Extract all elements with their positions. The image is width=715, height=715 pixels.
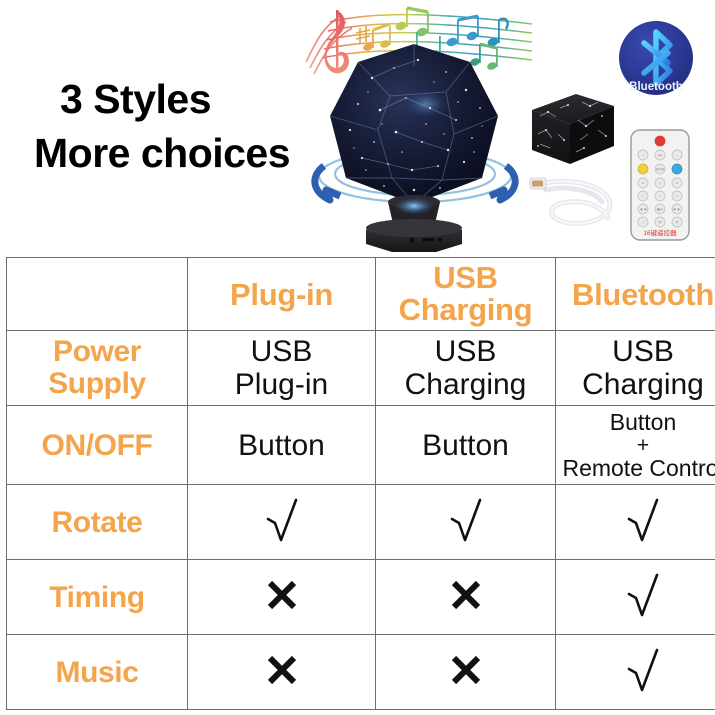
row-label-power-supply: Power Supply — [7, 331, 188, 406]
cell-power-supply-usb: USB Charging — [376, 331, 556, 406]
table-row-onoff: ON/OFF Button Button Button + Remote Con… — [7, 406, 715, 485]
cell-text: + — [558, 435, 715, 456]
gift-box-image — [518, 90, 618, 170]
svg-text:▶II: ▶II — [657, 207, 662, 212]
hero-section: 3 Styles More choices — [0, 0, 715, 257]
cell-rotate-bluetooth — [556, 485, 715, 560]
table-row-timing: Timing — [7, 560, 715, 635]
cell-text: Plug-in — [235, 368, 328, 401]
remote-control-image: +W− RYB ≡○≡ −○+ ◄◄▶II►► ♪⟲⟳ 16键遥控器 — [629, 128, 691, 242]
column-header-usb-charging: USB Charging — [376, 258, 556, 331]
cell-text: USB — [251, 335, 313, 368]
row-label-rotate-text: Rotate — [52, 506, 143, 539]
check-icon — [626, 497, 660, 543]
table-corner-cell — [7, 258, 188, 331]
bluetooth-badge: Bluetooth — [616, 18, 696, 98]
cell-onoff-usb: Button — [376, 406, 556, 485]
row-label-timing-text: Timing — [49, 581, 144, 614]
cell-text: Charging — [405, 368, 527, 401]
cell-onoff-bluetooth: Button + Remote Control — [556, 406, 715, 485]
svg-text:◄◄: ◄◄ — [639, 207, 647, 212]
cell-text: Button — [422, 429, 509, 462]
cell-timing-plugin — [188, 560, 376, 635]
row-label-timing: Timing — [7, 560, 188, 635]
column-header-bluetooth-label: Bluetooth — [572, 277, 714, 312]
cell-rotate-usb — [376, 485, 556, 560]
cell-power-supply-bluetooth: USB Charging — [556, 331, 715, 406]
comparison-table-wrapper: Plug-in USB Charging Bluetooth — [6, 257, 710, 709]
cell-text: Charging — [582, 368, 704, 401]
column-header-bluetooth: Bluetooth — [556, 258, 715, 331]
cell-text: USB — [612, 335, 674, 368]
comparison-table: Plug-in USB Charging Bluetooth — [6, 257, 715, 710]
headline-line-1: 3 Styles — [34, 72, 354, 126]
svg-text:W: W — [658, 153, 662, 158]
cell-music-bluetooth — [556, 635, 715, 710]
row-label-music: Music — [7, 635, 188, 710]
cell-power-supply-plugin: USB Plug-in — [188, 331, 376, 406]
check-icon — [626, 572, 660, 618]
cross-icon — [448, 577, 484, 613]
svg-text:♪: ♪ — [642, 220, 644, 225]
svg-text:►►: ►► — [673, 207, 681, 212]
star-projector-lamp-image — [322, 38, 507, 256]
cell-onoff-plugin: Button — [188, 406, 376, 485]
cell-music-plugin — [188, 635, 376, 710]
cross-icon — [264, 577, 300, 613]
cell-music-usb — [376, 635, 556, 710]
row-label-onoff-text: ON/OFF — [42, 429, 153, 462]
cell-timing-usb — [376, 560, 556, 635]
table-row-rotate: Rotate — [7, 485, 715, 560]
table-row-music: Music — [7, 635, 715, 710]
row-label-onoff: ON/OFF — [7, 406, 188, 485]
column-header-plugin: Plug-in — [188, 258, 376, 331]
row-label-power-supply-line-2: Supply — [48, 367, 146, 400]
cell-text: Remote Control — [562, 455, 715, 481]
cross-icon — [448, 652, 484, 688]
table-header-row: Plug-in USB Charging Bluetooth — [7, 258, 715, 331]
row-label-power-supply-line-1: Power — [53, 335, 141, 368]
usb-cable-image — [528, 168, 623, 238]
svg-text:RYB: RYB — [656, 167, 664, 172]
table-row-power-supply: Power Supply USB Plug-in USB Charg — [7, 331, 715, 406]
column-header-usb-charging-line-2: Charging — [399, 292, 533, 327]
check-icon — [265, 497, 299, 543]
remote-footer-label: 16键遥控器 — [643, 228, 677, 237]
infographic-root: 3 Styles More choices — [0, 0, 715, 715]
bluetooth-badge-label: Bluetooth — [629, 81, 683, 93]
cell-text: USB — [435, 335, 497, 368]
check-icon — [626, 647, 660, 693]
row-label-music-text: Music — [55, 656, 138, 689]
cell-text: Button — [610, 409, 677, 435]
column-header-plugin-label: Plug-in — [230, 277, 333, 312]
row-label-rotate: Rotate — [7, 485, 188, 560]
remote-power-button — [655, 136, 666, 147]
check-icon — [449, 497, 483, 543]
cell-text: Button — [238, 429, 325, 462]
cell-rotate-plugin — [188, 485, 376, 560]
column-header-usb-charging-line-1: USB — [433, 260, 498, 295]
cell-timing-bluetooth — [556, 560, 715, 635]
cross-icon — [264, 652, 300, 688]
